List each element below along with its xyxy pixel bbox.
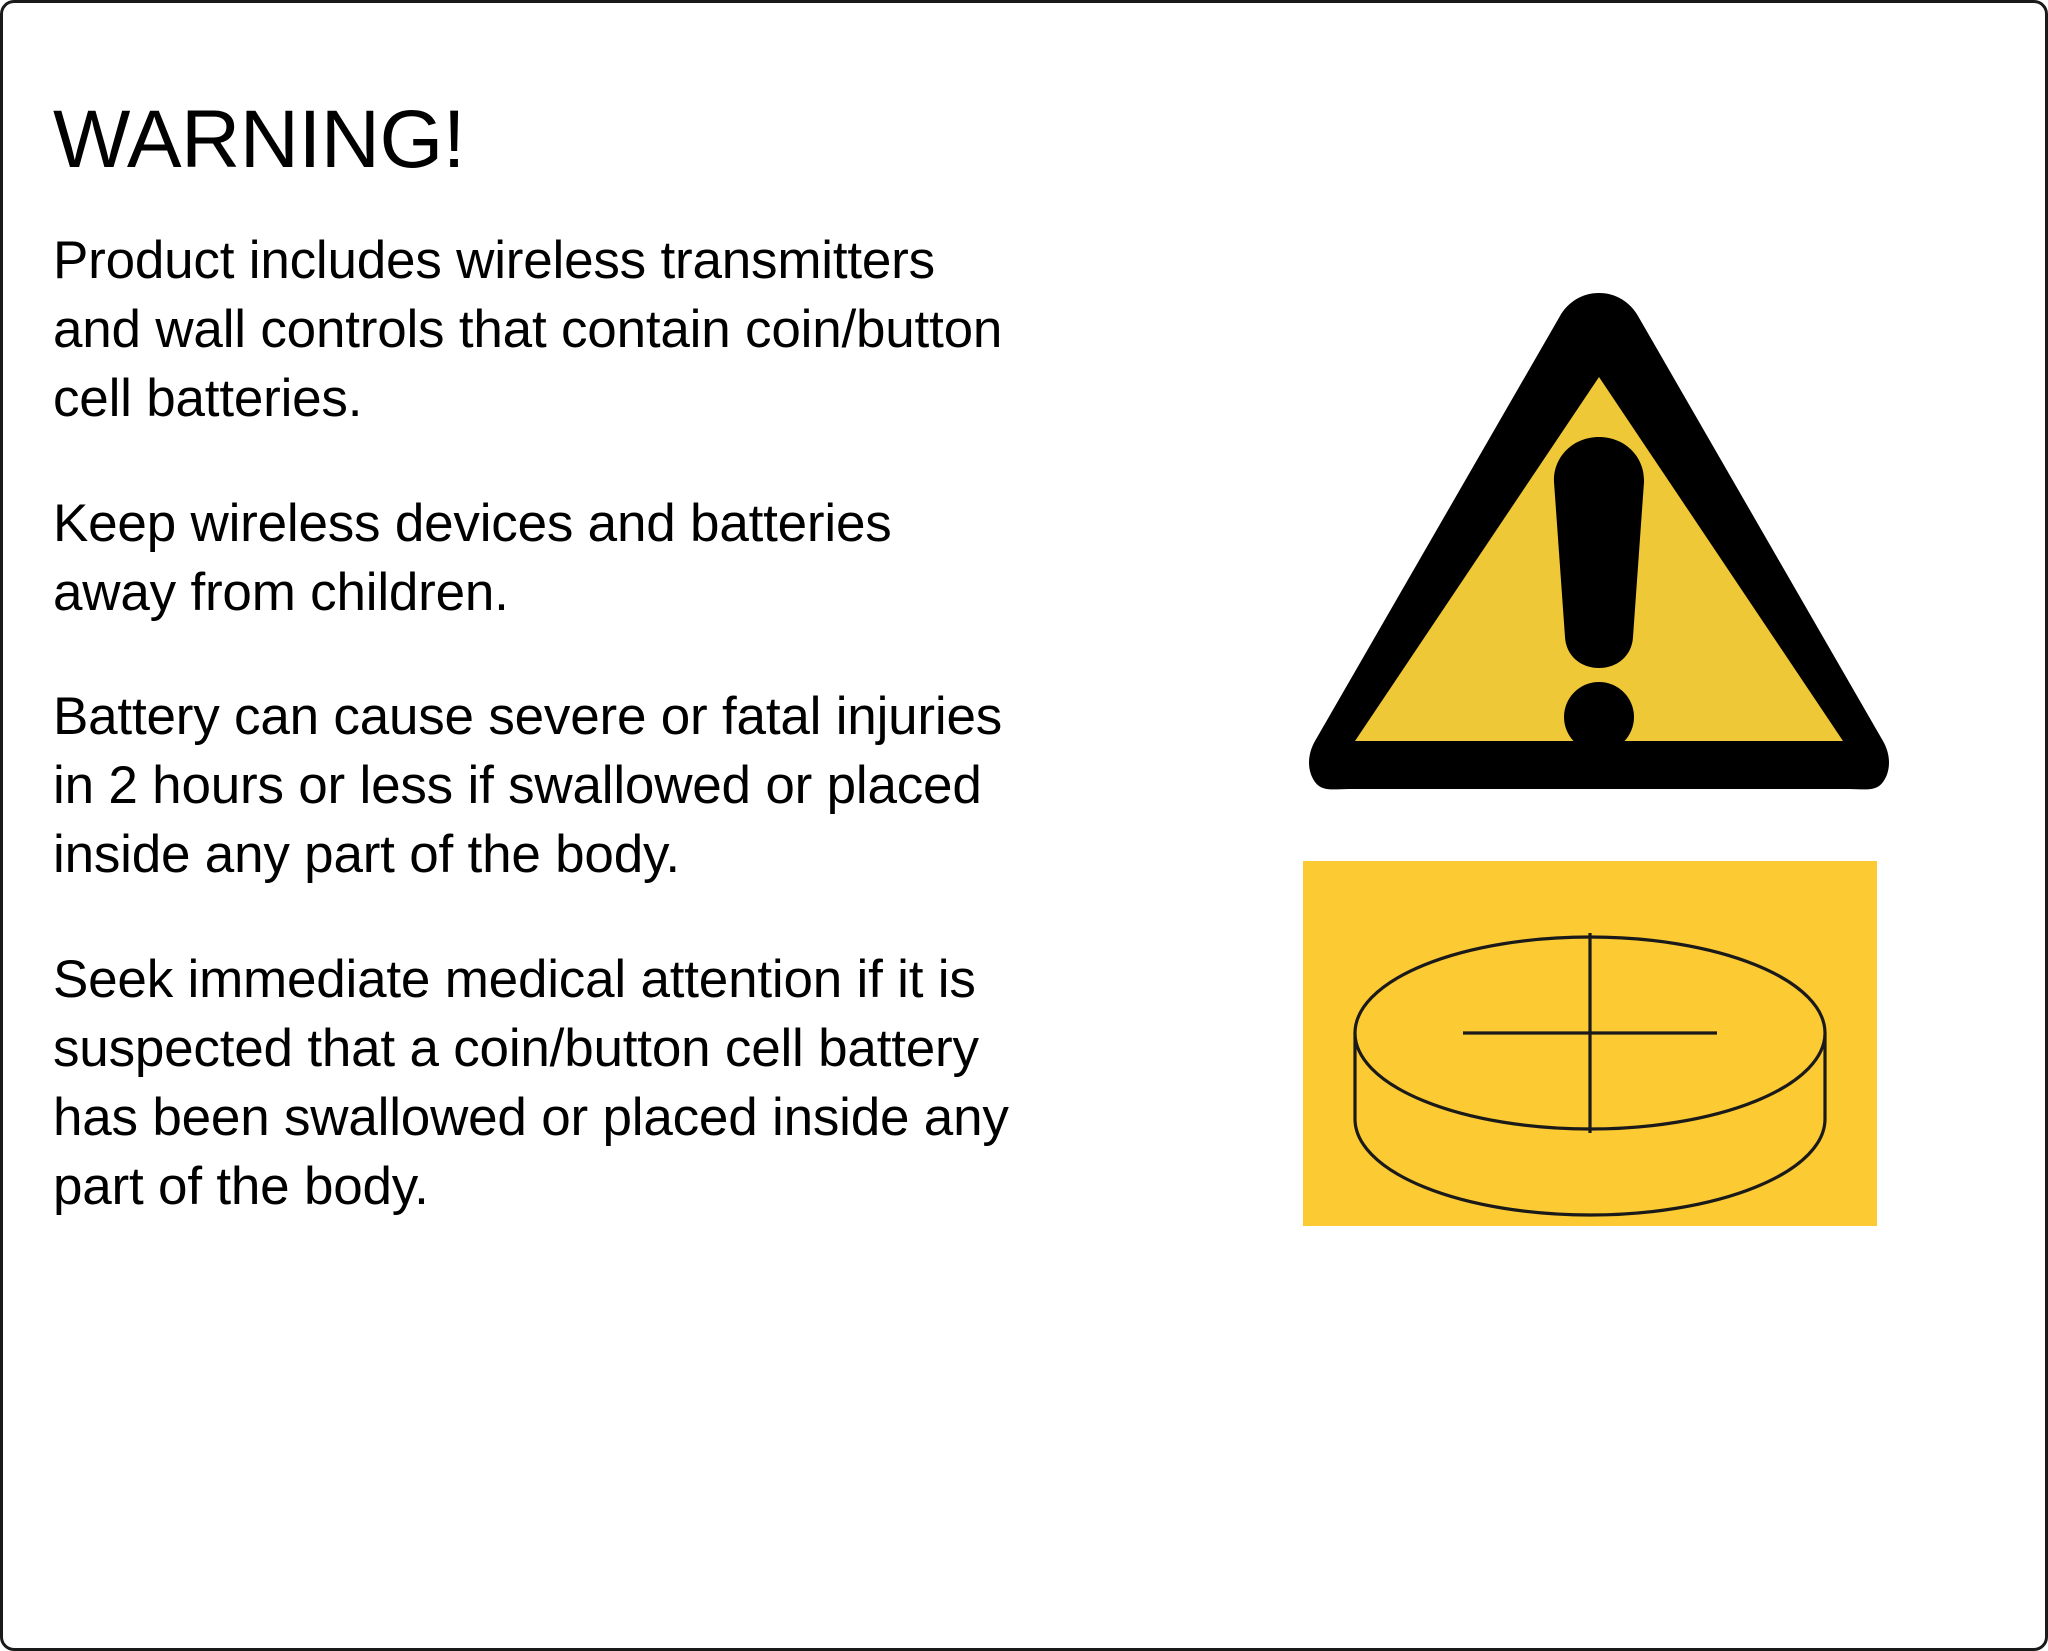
warning-paragraph-4: Seek immediate medical attention if it i… xyxy=(53,946,1013,1222)
warning-text-column: WARNING! Product includes wireless trans… xyxy=(53,99,1263,1222)
warning-triangle-icon xyxy=(1303,285,1895,797)
coin-cell-battery-icon xyxy=(1303,861,1877,1226)
page-title: WARNING! xyxy=(53,99,1263,181)
coin-cell-battery-pictogram xyxy=(1303,861,1877,1226)
warning-paragraph-3: Battery can cause severe or fatal injuri… xyxy=(53,683,1013,890)
warning-label-page: WARNING! Product includes wireless trans… xyxy=(0,0,2048,1651)
pictogram-column xyxy=(1298,3,1918,1651)
warning-paragraph-2: Keep wireless devices and batteries away… xyxy=(53,490,1013,628)
warning-paragraph-1: Product includes wireless transmitters a… xyxy=(53,227,1013,434)
